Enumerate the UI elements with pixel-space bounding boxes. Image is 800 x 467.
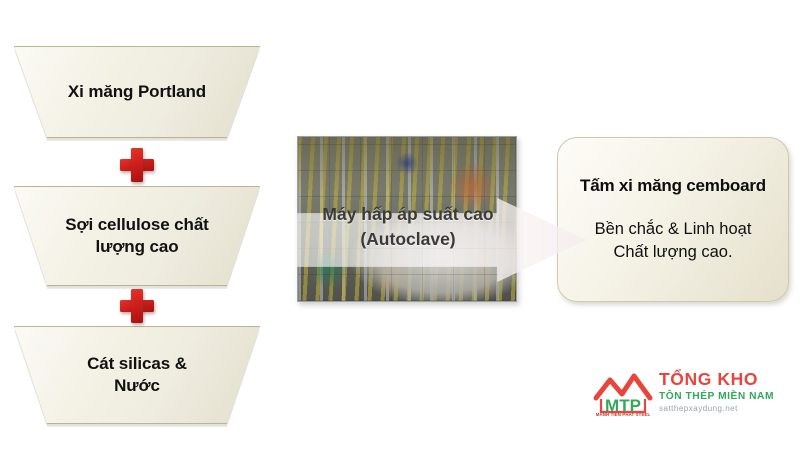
input-funnel-cement: Xi măng Portland [14, 46, 260, 138]
logo-primary-text: TỔNG KHO [659, 371, 774, 389]
plus-icon [120, 148, 154, 182]
result-panel: Tấm xi măng cemboard Bền chắc & Linh hoạ… [557, 137, 789, 302]
logo-website-text: satthepxaydung.net [659, 405, 774, 413]
input-label-line: lượng cao [95, 237, 178, 256]
input-funnel-cellulose-label: Sợi cellulose chất lượng cao [65, 214, 209, 259]
input-label-line: Xi măng Portland [68, 82, 206, 101]
input-funnel-cement-label: Xi măng Portland [68, 81, 206, 103]
input-label-line: Nước [114, 376, 160, 395]
logo-secondary-text: TÔN THÉP MIỀN NAM [659, 392, 774, 402]
plus-icon [120, 289, 154, 323]
input-label-line: Cát silicas & [87, 354, 187, 373]
process-label: Máy hấp áp suất cao (Autoclave) [297, 202, 519, 253]
company-logo: MTP MANH TIEN PHAT STEEL TỔNG KHO TÔN TH… [592, 366, 792, 418]
logo-house-icon: MTP MANH TIEN PHAT STEEL [592, 368, 654, 416]
logo-mark-tagline: MANH TIEN PHAT STEEL [592, 412, 654, 417]
result-body-line2: Chất lượng cao. [595, 241, 752, 264]
logo-text-block: TỔNG KHO TÔN THÉP MIỀN NAM satthepxaydun… [659, 371, 774, 413]
process-label-line2: (Autoclave) [297, 227, 519, 252]
plus-icon-bar-vertical [131, 148, 143, 182]
input-funnel-silica-water-label: Cát silicas & Nước [87, 353, 187, 398]
result-title: Tấm xi măng cemboard [580, 176, 766, 196]
process-arrow: Máy hấp áp suất cao (Autoclave) [297, 198, 587, 282]
process-label-line1: Máy hấp áp suất cao [297, 202, 519, 227]
input-funnel-cellulose: Sợi cellulose chất lượng cao [14, 186, 260, 286]
result-body-line1: Bền chắc & Linh hoạt [595, 218, 752, 241]
input-label-line: Sợi cellulose chất [65, 215, 209, 234]
diagram-canvas: Xi măng Portland Sợi cellulose chất lượn… [0, 0, 800, 467]
plus-icon-bar-vertical [131, 289, 143, 323]
result-body: Bền chắc & Linh hoạt Chất lượng cao. [595, 218, 752, 264]
input-funnel-silica-water: Cát silicas & Nước [14, 326, 260, 424]
